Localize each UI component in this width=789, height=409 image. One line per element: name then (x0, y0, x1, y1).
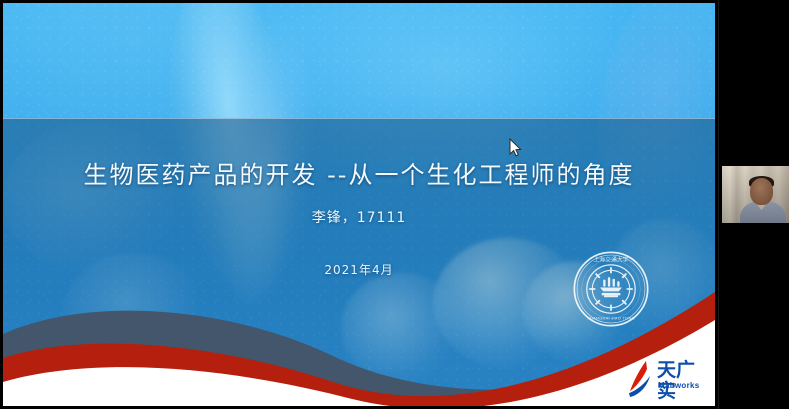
slides-icon[interactable] (67, 383, 82, 398)
slide-canvas[interactable]: 生物医药产品的开发 --从一个生化工程师的角度 李锋，17111 2021年4月 (3, 3, 715, 406)
slide-author: 李锋，17111 (3, 207, 715, 227)
panel-divider (718, 0, 719, 409)
slide-overlay-band-edge (3, 118, 715, 119)
svg-text:上海交通大学: 上海交通大学 (593, 256, 628, 264)
pointer-icon[interactable] (13, 383, 28, 398)
mabworks-logo: 天广实 Mabworks (627, 358, 713, 400)
pen-icon[interactable] (40, 383, 55, 398)
presentation-window: 生物医药产品的开发 --从一个生化工程师的角度 李锋，17111 2021年4月 (0, 0, 789, 409)
mabworks-logo-en: Mabworks (658, 381, 700, 390)
slide-title: 生物医药产品的开发 --从一个生化工程师的角度 (3, 155, 715, 190)
annotation-toolbar[interactable] (13, 383, 109, 398)
participant-video-panel[interactable] (718, 0, 789, 409)
comment-icon[interactable] (94, 383, 109, 398)
mabworks-mark-icon (627, 360, 657, 398)
participant-video-tile[interactable] (722, 166, 789, 223)
slide-stage[interactable]: 生物医药产品的开发 --从一个生化工程师的角度 李锋，17111 2021年4月 (0, 0, 718, 409)
slide-wave-decoration (3, 286, 715, 406)
